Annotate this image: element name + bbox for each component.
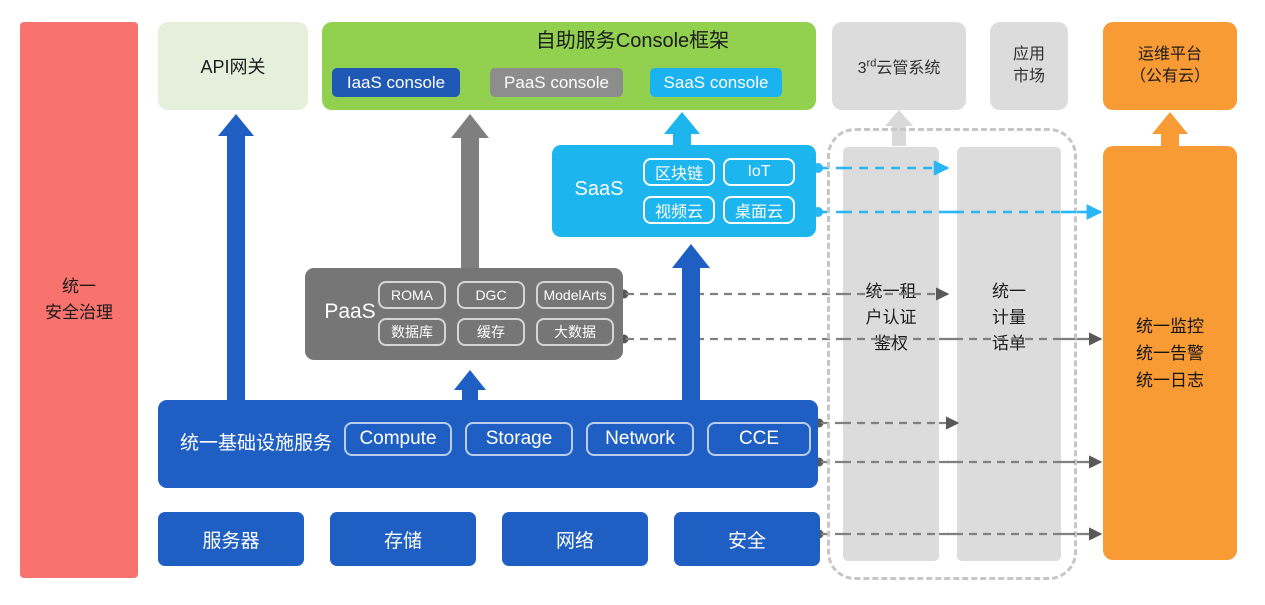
app-market-line-2: 市场 — [1013, 66, 1045, 88]
security-line-1: 统一 — [45, 274, 113, 300]
saas-console-chip[interactable]: SaaS console — [650, 68, 782, 97]
infrastructure-label: 统一基础设施服务 — [172, 428, 340, 455]
paas-layer-label: PaaS — [314, 300, 386, 324]
arrow-paas-to-console — [451, 114, 489, 268]
third-party-superscript: rd — [867, 58, 877, 70]
iaas-console-chip[interactable]: IaaS console — [332, 68, 460, 97]
arrow-infra-to-paas — [454, 370, 486, 402]
auth-line-2: 户认证 — [843, 305, 939, 331]
saas-layer-label: SaaS — [566, 178, 632, 201]
security-line-2: 安全治理 — [45, 300, 113, 326]
auth-line-3: 鉴权 — [843, 331, 939, 357]
metering-line-3: 话单 — [957, 331, 1061, 357]
saas-chip-video-cloud[interactable]: 视频云 — [643, 196, 715, 224]
arrow-opsbig-to-opstop — [1152, 112, 1188, 146]
resource-box-server[interactable]: 服务器 — [158, 512, 304, 566]
metering-line-1: 统一 — [957, 279, 1061, 305]
ops-top-line-2: （公有云） — [1130, 66, 1210, 88]
auth-column-label: 统一租 户认证 鉴权 — [843, 279, 939, 357]
saas-chip-desktop-cloud[interactable]: 桌面云 — [723, 196, 795, 224]
paas-chip-modelarts[interactable]: ModelArts — [536, 281, 614, 309]
infra-chip-network[interactable]: Network — [586, 422, 694, 456]
paas-chip-bigdata[interactable]: 大数据 — [536, 318, 614, 346]
metering-column-label: 统一 计量 话单 — [957, 279, 1061, 357]
arrow-infra-to-api-gateway — [218, 114, 254, 400]
paas-chip-roma[interactable]: ROMA — [378, 281, 446, 309]
ops-main-line-3: 统一日志 — [1136, 367, 1204, 394]
infra-chip-compute[interactable]: Compute — [344, 422, 452, 456]
arrow-infra-to-saas — [672, 244, 710, 400]
third-party-prefix: 3 — [858, 60, 867, 77]
unified-monitoring-panel[interactable]: 统一监控 统一告警 统一日志 — [1103, 146, 1237, 560]
ops-main-line-1: 统一监控 — [1136, 313, 1204, 340]
console-frame-title: 自助服务Console框架 — [0, 24, 1265, 53]
third-party-label: 3rd云管系统 — [858, 54, 941, 78]
architecture-diagram: 统一 安全治理 API网关 自助服务Console框架 IaaS console… — [0, 0, 1265, 605]
paas-chip-cache[interactable]: 缓存 — [457, 318, 525, 346]
resource-box-storage[interactable]: 存储 — [330, 512, 476, 566]
third-party-rest: 云管系统 — [876, 60, 940, 77]
paas-chip-dgc[interactable]: DGC — [457, 281, 525, 309]
auth-line-1: 统一租 — [843, 279, 939, 305]
arrow-saas-to-console — [664, 112, 700, 146]
metering-line-2: 计量 — [957, 305, 1061, 331]
saas-chip-iot[interactable]: IoT — [723, 158, 795, 186]
infra-chip-cce[interactable]: CCE — [707, 422, 811, 456]
unified-security-governance-panel[interactable]: 统一 安全治理 — [20, 22, 138, 578]
ops-main-line-2: 统一告警 — [1136, 340, 1204, 367]
infra-chip-storage[interactable]: Storage — [465, 422, 573, 456]
paas-chip-database[interactable]: 数据库 — [378, 318, 446, 346]
api-gateway-label: API网关 — [200, 53, 265, 79]
resource-box-network[interactable]: 网络 — [502, 512, 648, 566]
saas-chip-blockchain[interactable]: 区块链 — [643, 158, 715, 186]
paas-console-chip[interactable]: PaaS console — [490, 68, 623, 97]
resource-box-security[interactable]: 安全 — [674, 512, 820, 566]
